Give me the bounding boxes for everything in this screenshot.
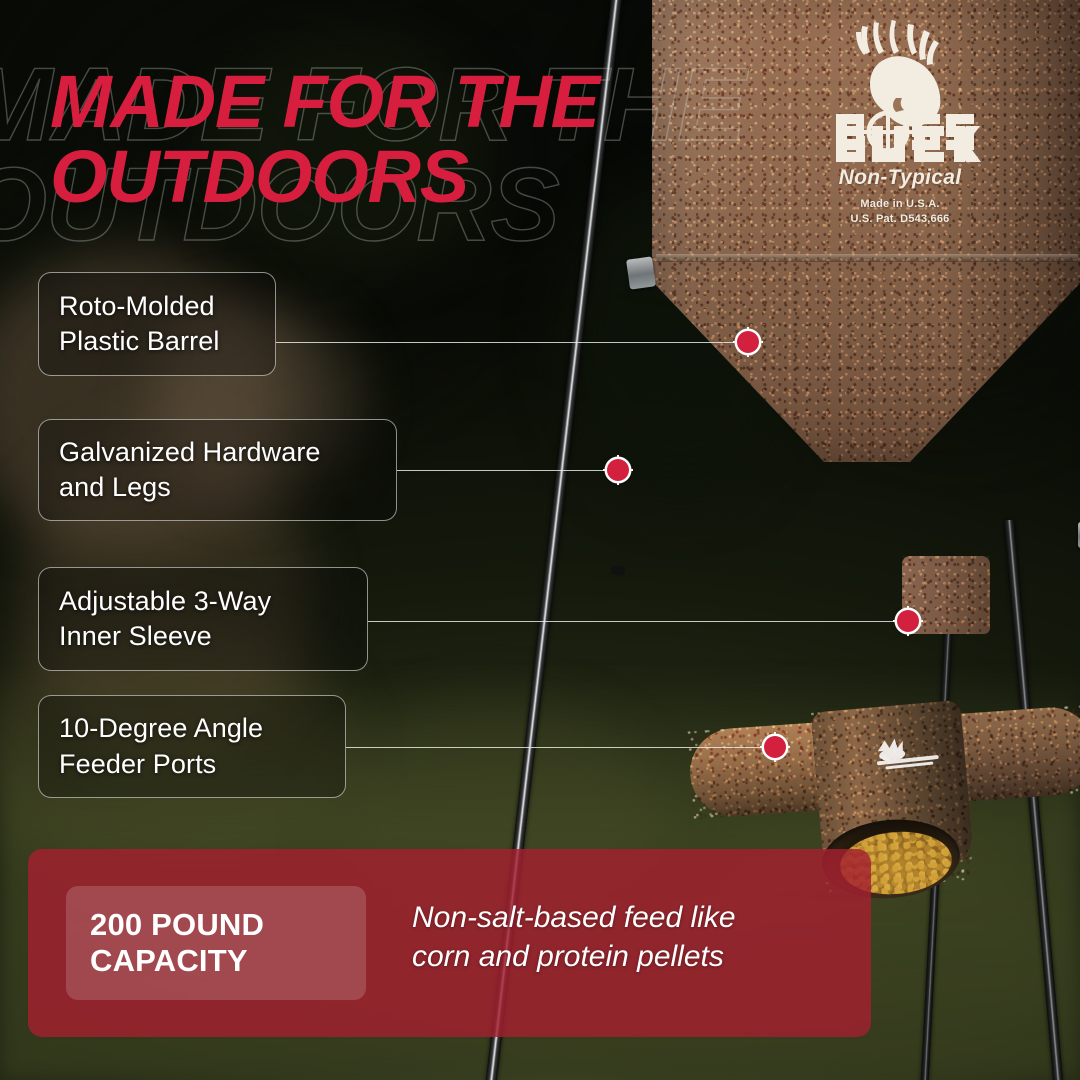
callout-leader-line-3 bbox=[368, 621, 910, 622]
boss-buck-logo: Non-Typical Made in U.S.A. U.S. Pat. D54… bbox=[800, 18, 1000, 230]
crosshair-marker-legs[interactable] bbox=[603, 455, 633, 485]
callout-10-degree-angle-feeder-ports[interactable]: 10-Degree Angle Feeder Ports bbox=[38, 695, 346, 798]
callout-label: Adjustable 3-Way Inner Sleeve bbox=[59, 584, 271, 654]
crosshair-marker-ports[interactable] bbox=[760, 732, 790, 762]
callout-leader-line-4 bbox=[346, 747, 776, 748]
marker-dot bbox=[737, 331, 759, 353]
capacity-badge: 200 POUND CAPACITY bbox=[66, 886, 366, 1000]
marker-dot bbox=[764, 736, 786, 758]
crosshair-marker-barrel[interactable] bbox=[733, 327, 763, 357]
headline-block: MADE FOR THE OUTDOORS MADE FOR THE OUTDO… bbox=[0, 0, 760, 270]
capacity-label: 200 POUND CAPACITY bbox=[90, 907, 366, 979]
leg-coupler bbox=[611, 565, 626, 576]
callout-roto-molded-plastic-barrel[interactable]: Roto-Molded Plastic Barrel bbox=[38, 272, 276, 376]
callout-label: Roto-Molded Plastic Barrel bbox=[59, 289, 219, 359]
brand-made-in: Made in U.S.A. bbox=[800, 198, 1000, 210]
page-title: MADE FOR THE OUTDOORS bbox=[50, 64, 599, 215]
callout-galvanized-hardware-and-legs[interactable]: Galvanized Hardware and Legs bbox=[38, 419, 397, 521]
callout-adjustable-3-way-inner-sleeve[interactable]: Adjustable 3-Way Inner Sleeve bbox=[38, 567, 368, 671]
infographic-canvas: Non-Typical Made in U.S.A. U.S. Pat. D54… bbox=[0, 0, 1080, 1080]
marker-dot bbox=[897, 610, 919, 632]
callout-leader-line-2 bbox=[397, 470, 619, 471]
callout-label: Galvanized Hardware and Legs bbox=[59, 435, 321, 505]
brand-tagline: Non-Typical bbox=[800, 166, 1000, 190]
crosshair-marker-sleeve[interactable] bbox=[893, 606, 923, 636]
brand-patent: U.S. Pat. D543,666 bbox=[800, 213, 1000, 225]
callout-leader-line-1 bbox=[276, 342, 758, 343]
callout-label: 10-Degree Angle Feeder Ports bbox=[59, 711, 263, 781]
marker-dot bbox=[607, 459, 629, 481]
feed-note: Non-salt-based feed like corn and protei… bbox=[412, 898, 832, 976]
buck-wordmark-icon bbox=[800, 122, 1000, 166]
